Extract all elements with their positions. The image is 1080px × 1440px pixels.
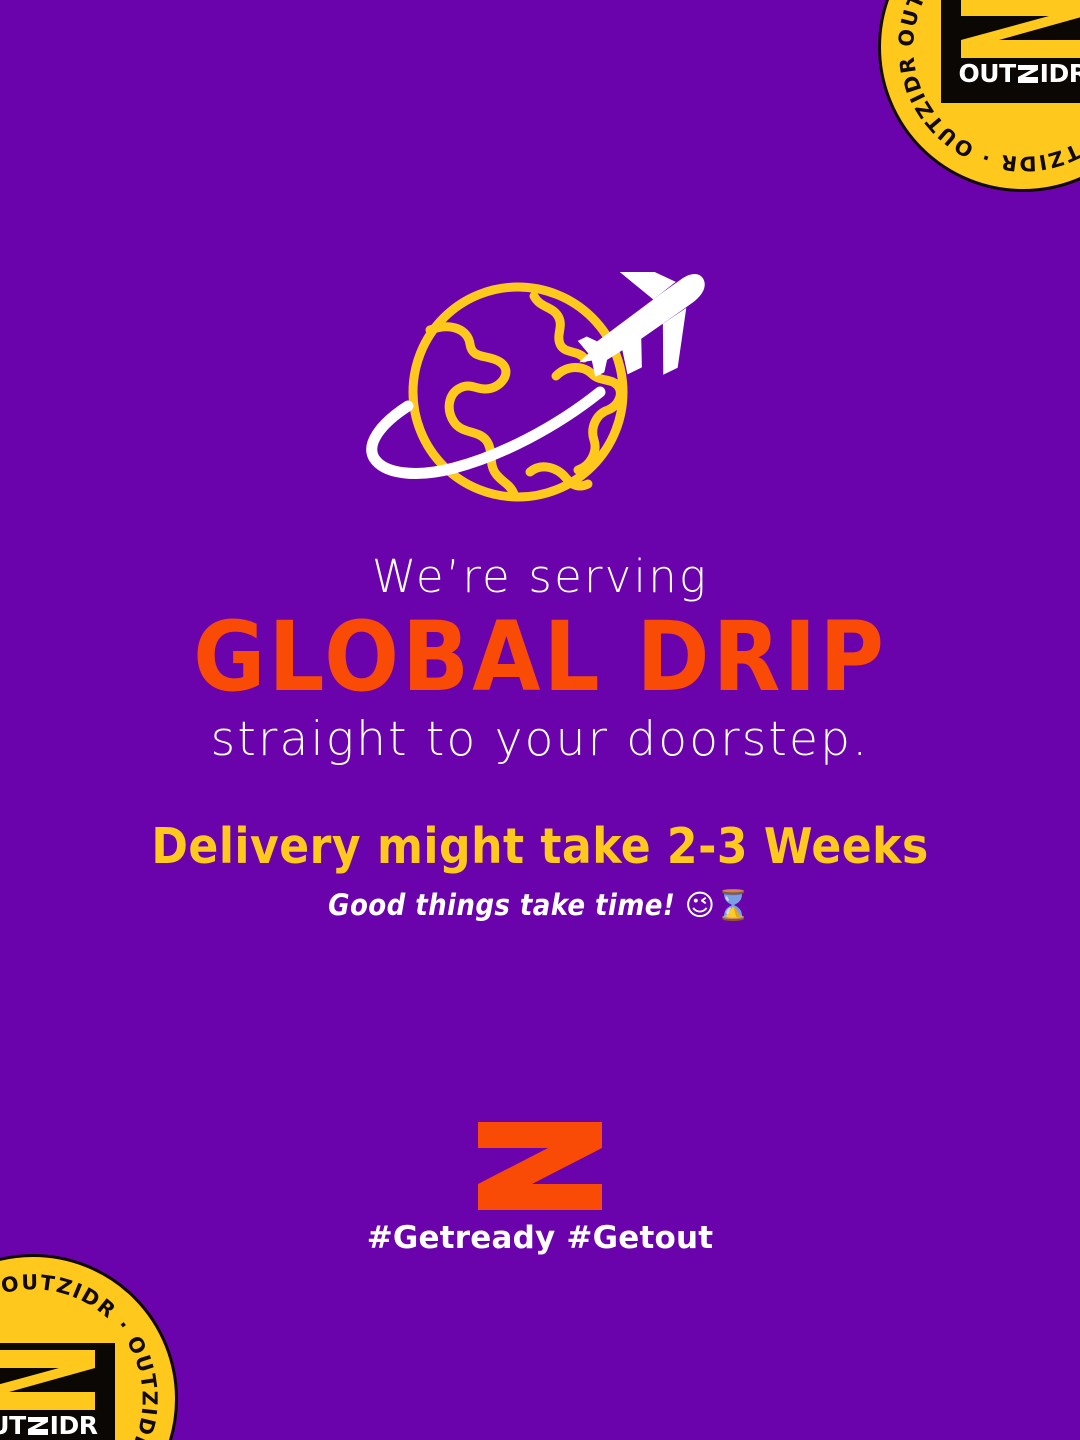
delivery-notice: Delivery might take 2-3 Weeks	[0, 820, 1080, 874]
wordmark-z-icon	[27, 1416, 49, 1436]
orbit-trail-icon	[372, 392, 600, 473]
wordmark-suffix: IDR	[50, 1413, 98, 1438]
outzidr-badge-top-right: OUTZIDR · OUTZIDR · OUTZIDR · OUTZIDR · …	[878, 0, 1080, 192]
wordmark-z-icon	[1017, 64, 1039, 84]
wordmark-prefix: OUT	[959, 61, 1016, 86]
badge-core-bottom-left: OUT IDR	[0, 1343, 115, 1440]
outzidr-badge-bottom-left: OUTZIDR · OUTZIDR · OUTZIDR · OUTZIDR · …	[0, 1254, 178, 1440]
z-mark-icon	[957, 0, 1080, 60]
poster-canvas: OUTZIDR · OUTZIDR · OUTZIDR · OUTZIDR · …	[0, 0, 1080, 1440]
delivery-subnote-text: Good things take time!	[328, 888, 675, 922]
badge-wordmark: OUT IDR	[0, 1413, 97, 1438]
delivery-notice-block: Delivery might take 2-3 Weeks Good thing…	[0, 820, 1080, 923]
badge-core-top-right: OUT IDR	[941, 0, 1080, 103]
wordmark-prefix: OUT	[0, 1413, 26, 1438]
globe-airplane-icon	[350, 272, 730, 517]
headline-block: We’re serving GLOBAL DRIP straight to yo…	[0, 552, 1080, 766]
globe-airplane-artwork	[350, 272, 730, 517]
headline-line-1: We’re serving	[0, 552, 1080, 602]
badge-wordmark: OUT IDR	[959, 61, 1080, 86]
footer-block: #Getready #Getout	[0, 1122, 1080, 1256]
z-mark-icon	[0, 1348, 99, 1412]
headline-line-3: straight to your doorstep.	[0, 714, 1080, 766]
headline-line-2: GLOBAL DRIP	[0, 608, 1080, 708]
delivery-subnote-emoji: 😉⌛	[685, 888, 752, 922]
footer-hashtags: #Getready #Getout	[0, 1220, 1080, 1256]
airplane-icon	[548, 272, 730, 405]
outzidr-z-logo	[478, 1122, 602, 1210]
delivery-subnote: Good things take time! 😉⌛	[0, 888, 1080, 923]
wordmark-suffix: IDR	[1040, 61, 1080, 86]
